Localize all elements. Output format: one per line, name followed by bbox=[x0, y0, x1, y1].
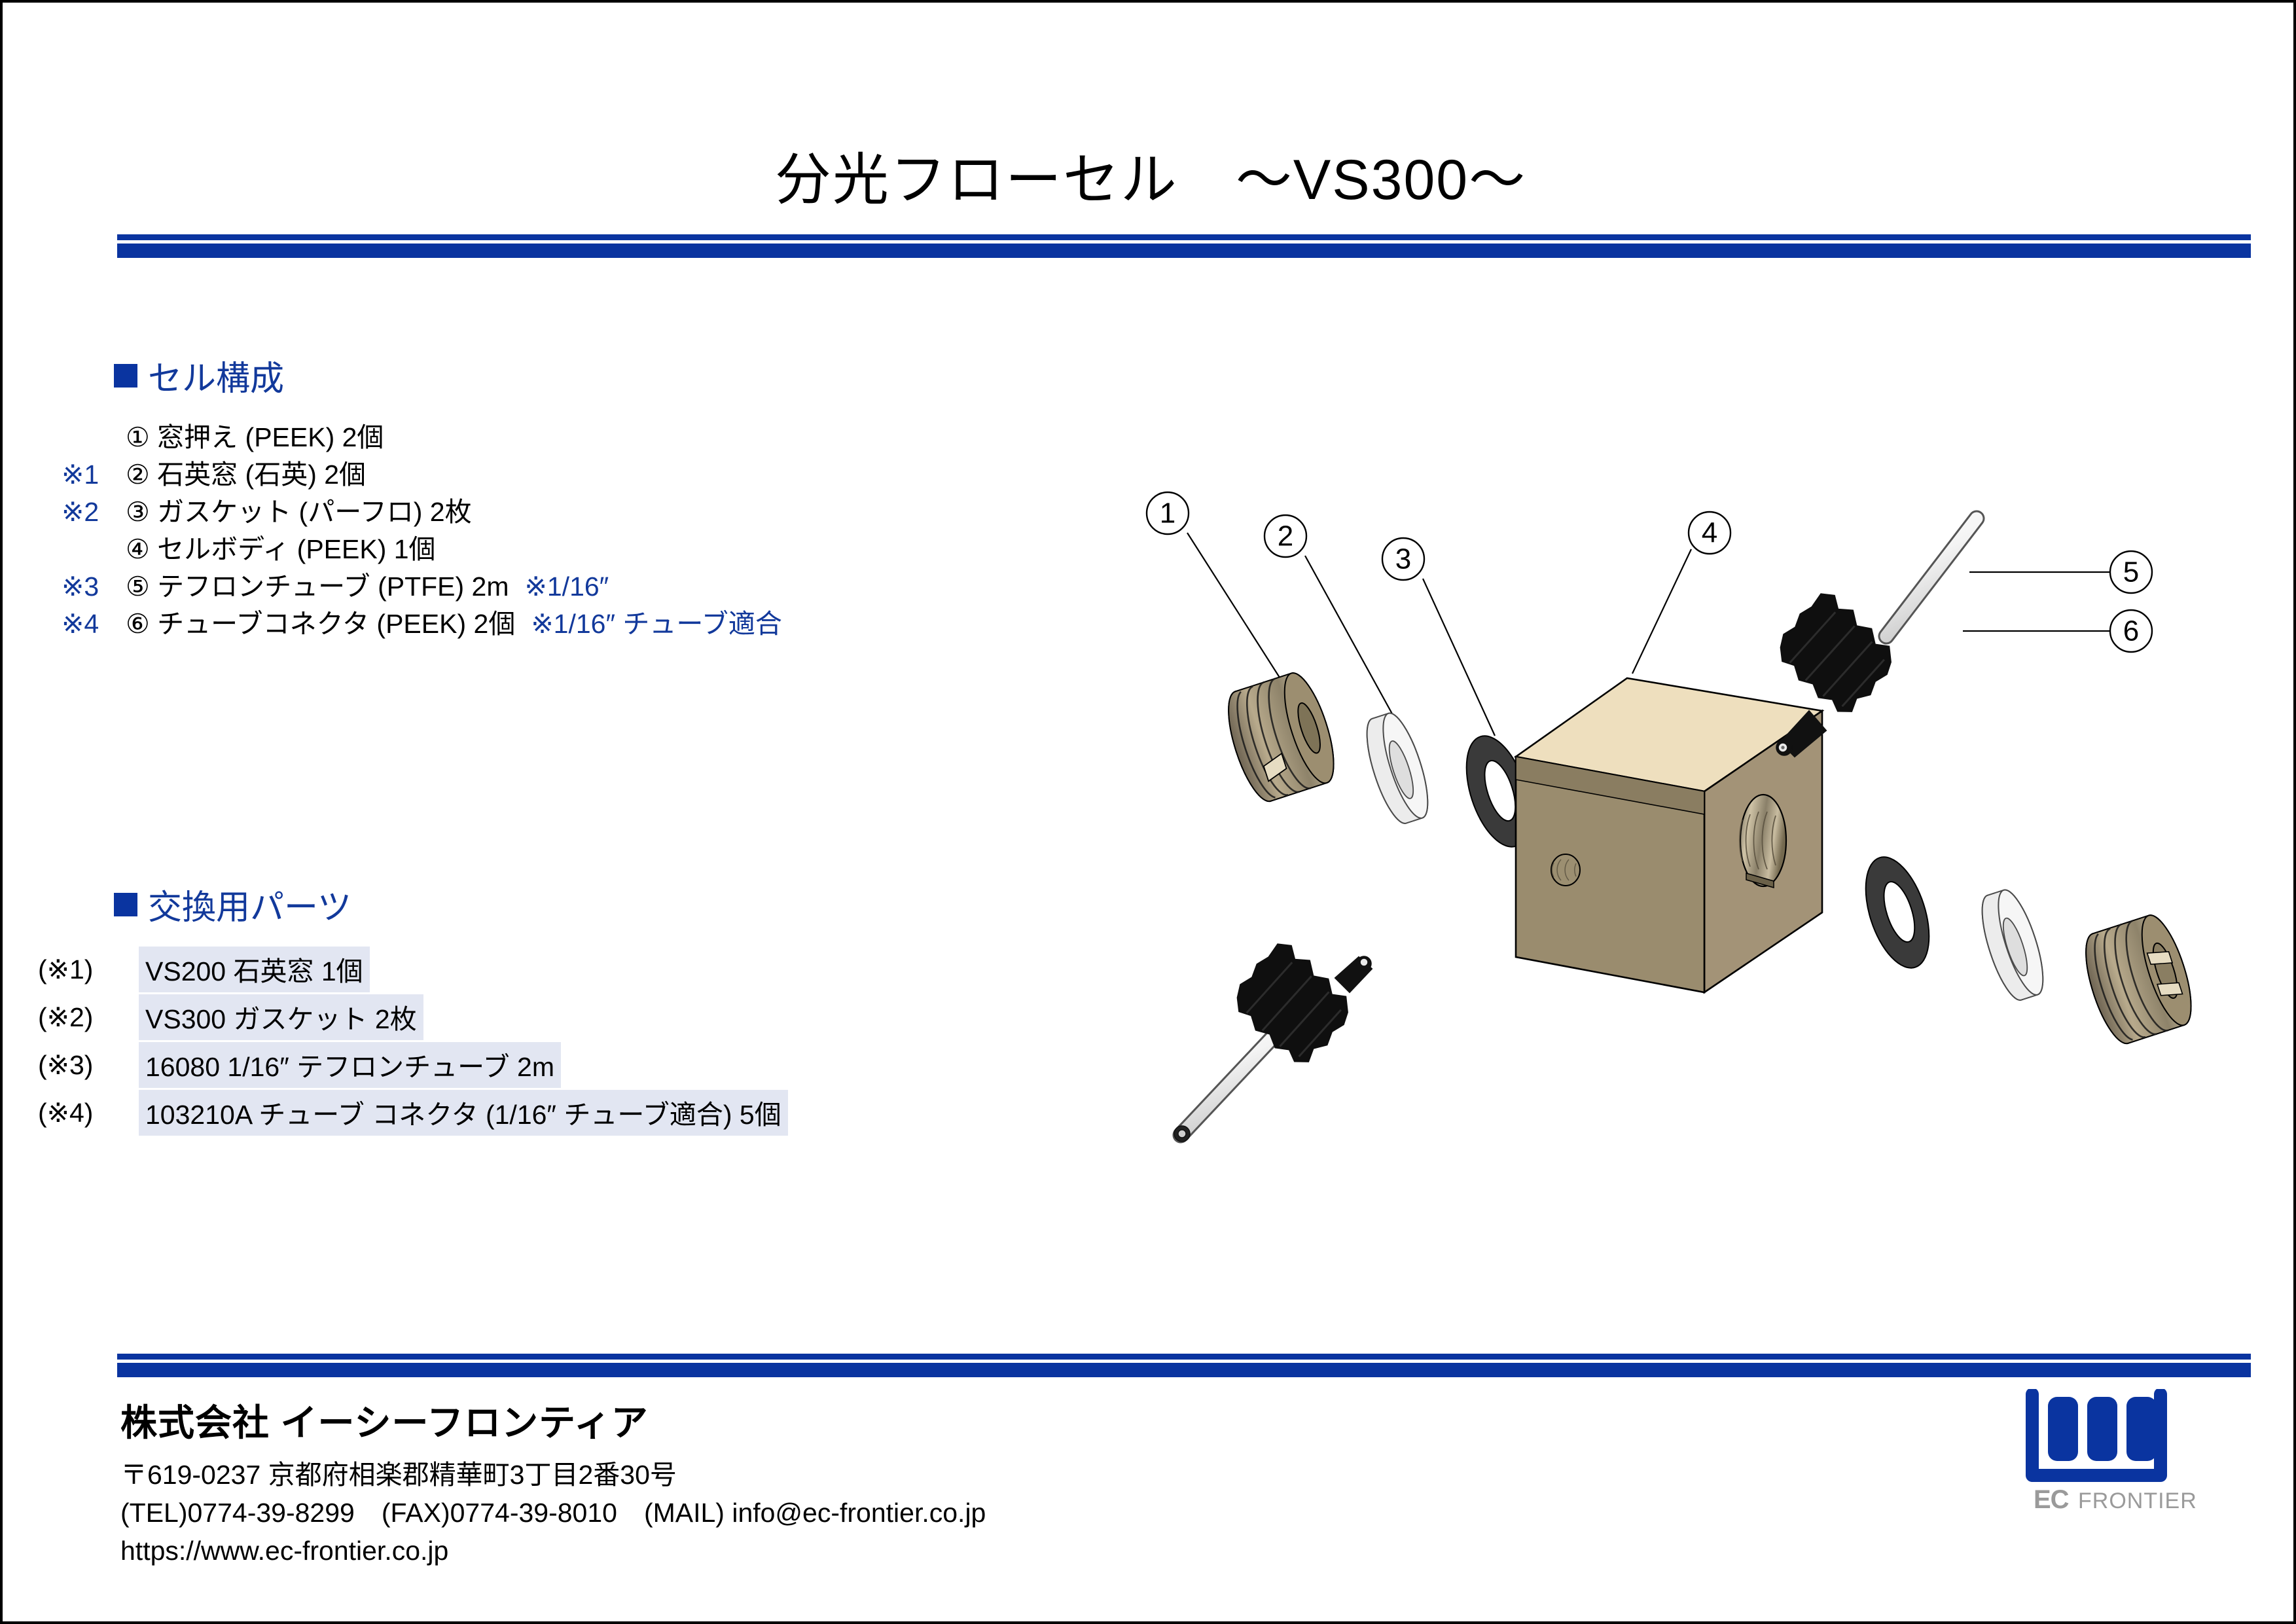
list-item: ※2 ③ ガスケット (パーフロ) 2枚 bbox=[55, 490, 873, 527]
callout-label: 1 bbox=[1160, 497, 1175, 530]
callout-2: 2 bbox=[1265, 515, 1306, 557]
document-page: 分光フローセル ～VS300～ セル構成 ① 窓押え (PEEK) 2個 ※1 … bbox=[0, 0, 2296, 1624]
callout-label: 6 bbox=[2123, 615, 2139, 647]
list-item: ① 窓押え (PEEK) 2個 bbox=[55, 415, 873, 452]
square-bullet-icon bbox=[114, 893, 137, 916]
list-item: (※2) VS300 ガスケット 2枚 bbox=[29, 993, 945, 1041]
item-mark: (※2) bbox=[29, 1001, 139, 1033]
item-mark: ※1 bbox=[55, 459, 126, 490]
list-item: (※3) 16080 1/16″ テフロンチューブ 2m bbox=[29, 1041, 945, 1089]
item-label: VS300 ガスケット 2枚 bbox=[139, 994, 423, 1040]
part-window-press-left bbox=[1219, 668, 1344, 806]
replacement-parts-list: (※1) VS200 石英窓 1個 (※2) VS300 ガスケット 2枚 (※… bbox=[29, 945, 945, 1136]
logo-bar-1 bbox=[2048, 1397, 2078, 1461]
list-item: (※4) 103210A チューブ コネクタ (1/16″ チューブ適合) 5個 bbox=[29, 1089, 945, 1136]
part-gasket-right bbox=[1854, 849, 1941, 975]
item-label: 16080 1/16″ テフロンチューブ 2m bbox=[139, 1042, 561, 1088]
callout-3: 3 bbox=[1382, 538, 1424, 580]
item-label: ② 石英窓 (石英) 2個 bbox=[126, 452, 366, 492]
footer-rule-thick bbox=[117, 1363, 2251, 1377]
ec-frontier-logo: EC FRONTIER bbox=[2022, 1389, 2198, 1520]
logo-text-frontier: FRONTIER bbox=[2078, 1489, 2197, 1513]
item-note: ※1/16″ bbox=[525, 571, 609, 602]
callout-4: 4 bbox=[1689, 512, 1731, 554]
callout-label: 5 bbox=[2123, 556, 2139, 588]
header-rule-thin bbox=[117, 234, 2251, 240]
list-item: ④ セルボディ (PEEK) 1個 bbox=[55, 527, 873, 564]
list-item: ※3 ⑤ テフロンチューブ (PTFE) 2m ※1/16″ bbox=[55, 564, 873, 602]
footer: 株式会社 イーシーフロンティア 〒619-0237 京都府相楽郡精華町3丁目2番… bbox=[120, 1394, 986, 1570]
footer-rule-thin bbox=[117, 1354, 2251, 1360]
item-mark: ※2 bbox=[55, 496, 126, 528]
item-label: ⑥ チューブコネクタ (PEEK) 2個 bbox=[126, 602, 515, 641]
company-name: 株式会社 イーシーフロンティア bbox=[120, 1394, 986, 1447]
item-mark: (※4) bbox=[29, 1097, 139, 1128]
callout-label: 3 bbox=[1395, 543, 1411, 575]
item-note: ※1/16″ チューブ適合 bbox=[531, 602, 782, 641]
item-label: 103210A チューブ コネクタ (1/16″ チューブ適合) 5個 bbox=[139, 1090, 788, 1136]
exploded-assembly-diagram: 1 2 3 4 5 bbox=[971, 461, 2254, 1279]
side-hole-icon bbox=[1551, 854, 1580, 886]
threaded-bore-icon bbox=[1740, 795, 1786, 888]
item-mark: (※3) bbox=[29, 1049, 139, 1081]
cell-composition-list: ① 窓押え (PEEK) 2個 ※1 ② 石英窓 (石英) 2個 ※2 ③ ガス… bbox=[55, 415, 873, 639]
connector-body bbox=[1224, 936, 1361, 1072]
list-item: ※4 ⑥ チューブコネクタ (PEEK) 2個 ※1/16″ チューブ適合 bbox=[55, 602, 873, 639]
part-tube-connector-lower bbox=[1174, 936, 1372, 1142]
cell-composition-heading-label: セル構成 bbox=[148, 351, 284, 400]
item-label: ① 窓押え (PEEK) 2個 bbox=[126, 415, 384, 454]
item-mark: ※3 bbox=[55, 571, 126, 602]
item-label: VS200 石英窓 1個 bbox=[139, 947, 370, 992]
logo-bar-3 bbox=[2126, 1397, 2157, 1461]
header-rule-thick bbox=[117, 244, 2251, 258]
replacement-parts-heading: 交換用パーツ bbox=[114, 880, 351, 929]
replacement-parts-heading-label: 交換用パーツ bbox=[148, 880, 351, 929]
logo-bar-2 bbox=[2087, 1397, 2117, 1461]
item-label: ③ ガスケット (パーフロ) 2枚 bbox=[126, 490, 472, 529]
square-bullet-icon bbox=[114, 364, 137, 388]
list-item: ※1 ② 石英窓 (石英) 2個 bbox=[55, 452, 873, 490]
connector-body bbox=[1767, 586, 1905, 722]
callout-label: 4 bbox=[1702, 517, 1717, 549]
cell-composition-heading: セル構成 bbox=[114, 351, 284, 400]
callout-label: 2 bbox=[1278, 520, 1293, 552]
callout-1: 1 bbox=[1147, 492, 1189, 534]
item-label: ④ セルボディ (PEEK) 1個 bbox=[126, 527, 436, 566]
page-title: 分光フローセル ～VS300～ bbox=[3, 134, 2296, 215]
company-url[interactable]: https://www.ec-frontier.co.jp bbox=[120, 1532, 986, 1570]
part-window-press-right bbox=[2076, 910, 2201, 1049]
part-quartz-window-right bbox=[1973, 886, 2052, 1005]
list-item: (※1) VS200 石英窓 1個 bbox=[29, 945, 945, 993]
part-quartz-window-left bbox=[1358, 709, 1437, 828]
callout-5: 5 bbox=[2110, 551, 2152, 593]
logo-text-ec: EC bbox=[2034, 1485, 2069, 1514]
callout-6: 6 bbox=[2110, 610, 2152, 652]
company-contact: (TEL)0774-39-8299 (FAX)0774-39-8010 (MAI… bbox=[120, 1494, 986, 1532]
item-mark: ※4 bbox=[55, 608, 126, 640]
part-cell-body bbox=[1516, 678, 1822, 992]
item-label: ⑤ テフロンチューブ (PTFE) 2m bbox=[126, 564, 509, 604]
company-address: 〒619-0237 京都府相楽郡精華町3丁目2番30号 bbox=[120, 1456, 986, 1494]
item-mark: (※1) bbox=[29, 954, 139, 985]
